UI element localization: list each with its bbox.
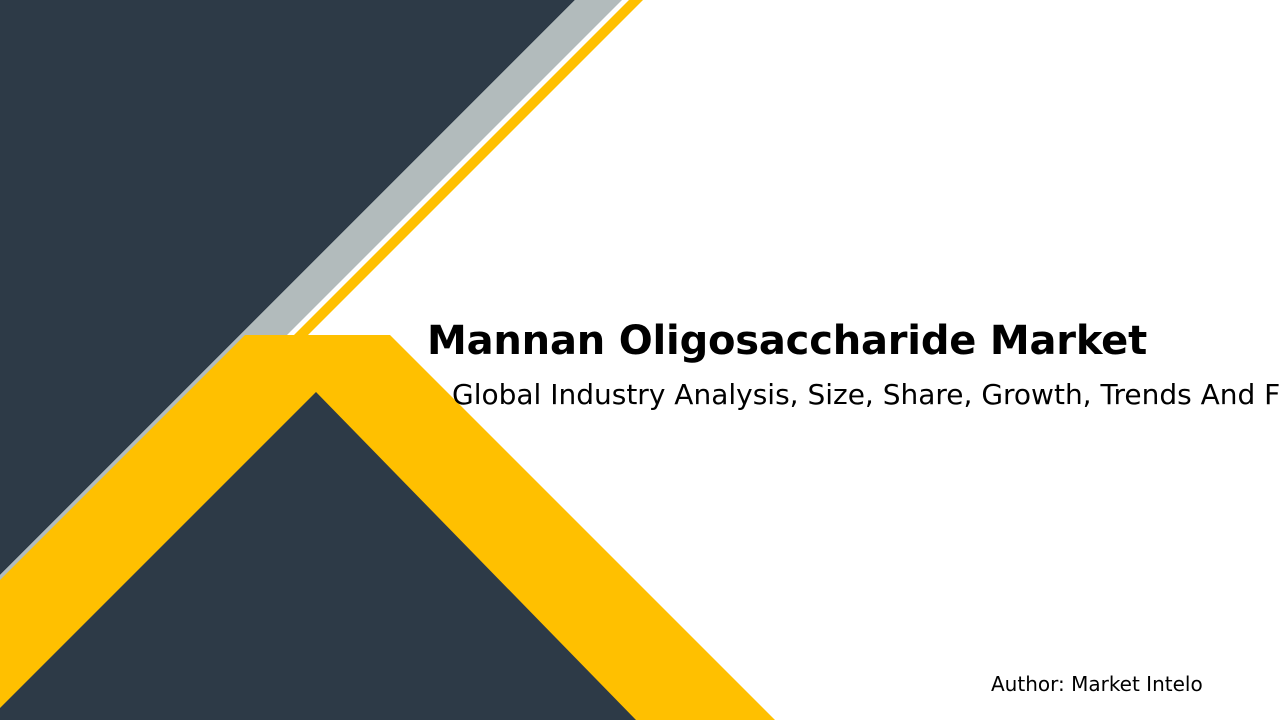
- slide-text-layer: Mannan Oligosaccharide Market Global Ind…: [0, 0, 1280, 720]
- title-slide: Mannan Oligosaccharide Market Global Ind…: [0, 0, 1280, 720]
- page-subtitle: Global Industry Analysis, Size, Share, G…: [452, 376, 1280, 414]
- page-title: Mannan Oligosaccharide Market: [427, 315, 1147, 367]
- author-label: Author: Market Intelo: [991, 671, 1203, 698]
